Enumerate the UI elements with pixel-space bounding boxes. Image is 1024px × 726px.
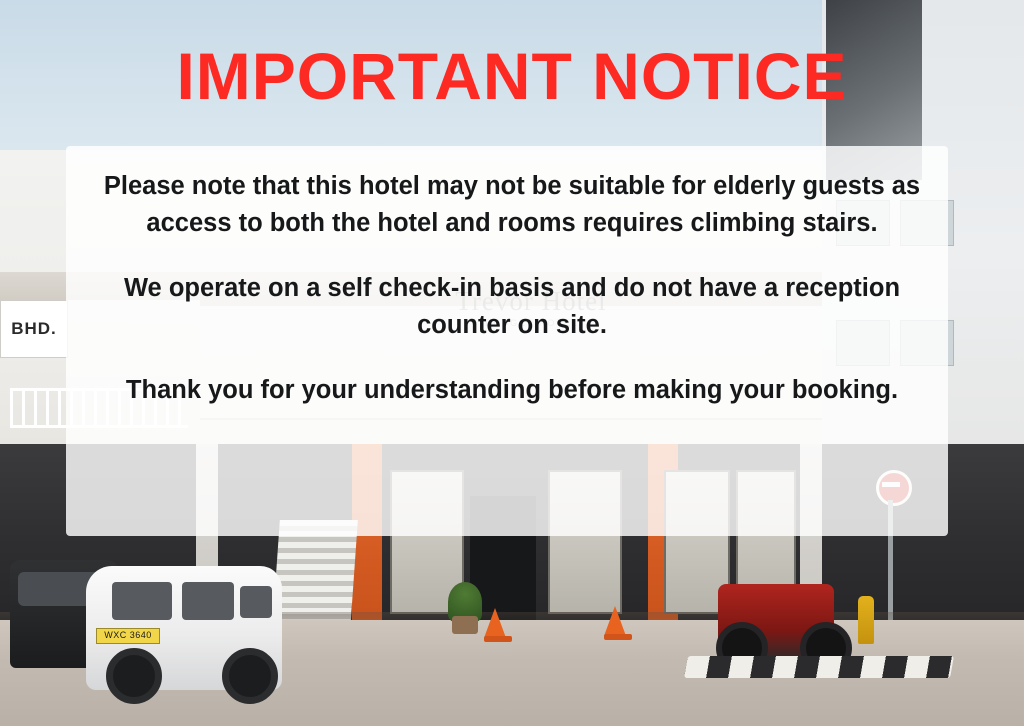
traffic-cone (604, 606, 626, 636)
car-wheel (222, 648, 278, 704)
car-window (182, 582, 234, 620)
notice-title: IMPORTANT NOTICE (0, 42, 1024, 111)
shop-signboard: BHD. (0, 300, 68, 358)
traffic-cone (484, 608, 506, 638)
notice-paragraph-3: Thank you for your understanding before … (90, 372, 934, 409)
traffic-cone-base (484, 636, 512, 642)
notice-paragraph-2: We operate on a self check-in basis and … (90, 270, 934, 344)
notice-paragraph-1: Please note that this hotel may not be s… (90, 168, 934, 242)
striped-curb (684, 656, 954, 678)
plant-pot (452, 616, 478, 634)
car-wheel (106, 648, 162, 704)
car-window (240, 586, 272, 618)
notice-image: BHD. Trevor Hotel BUDGET HOTEL (0, 0, 1024, 726)
yellow-bollard (858, 596, 874, 644)
car-license-plate: WXC 3640 (96, 628, 160, 644)
car-window (112, 582, 172, 620)
traffic-cone-base (604, 634, 632, 640)
notice-body: Please note that this hotel may not be s… (90, 168, 934, 409)
